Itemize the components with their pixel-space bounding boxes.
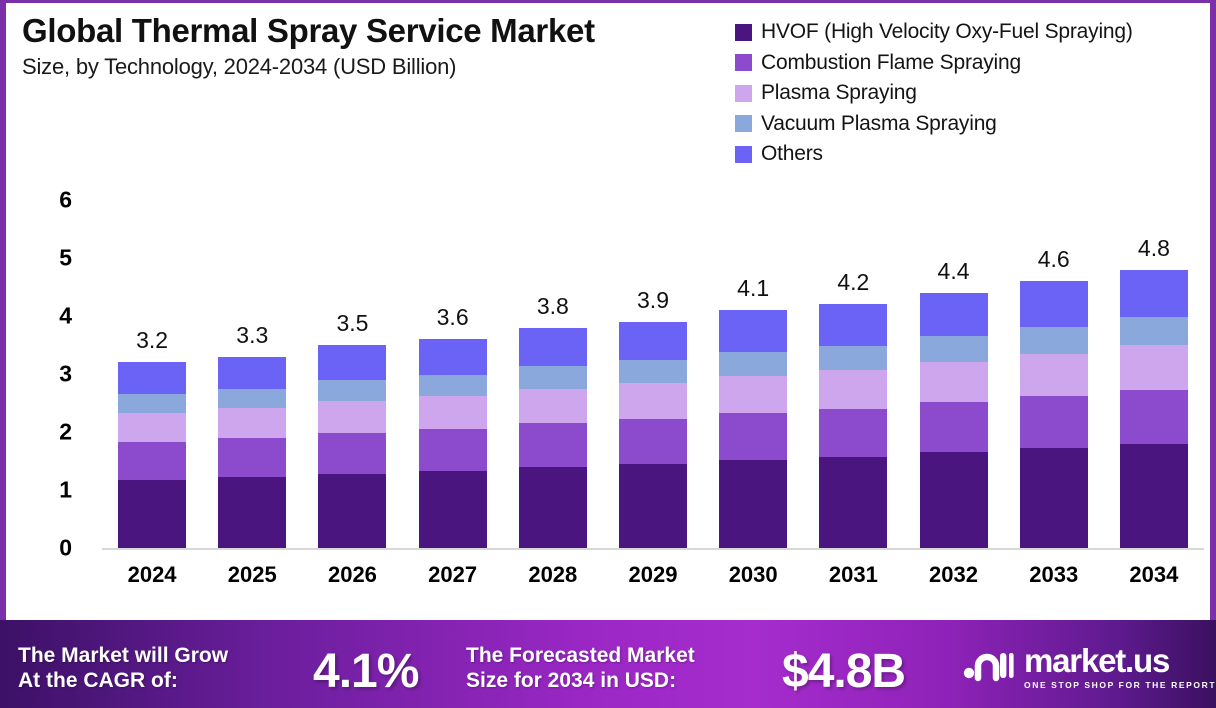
- bar-segment[interactable]: [819, 304, 887, 345]
- cagr-label: The Market will Grow At the CAGR of:: [18, 644, 228, 694]
- x-axis-tick: 2034: [1129, 562, 1178, 588]
- x-axis-tick: 2031: [829, 562, 878, 588]
- bar-group[interactable]: 3.52026: [318, 345, 386, 548]
- bar-total-label: 4.1: [737, 275, 769, 302]
- bar-segment[interactable]: [318, 345, 386, 380]
- bar-group[interactable]: 4.82034: [1120, 270, 1188, 548]
- bar-segment[interactable]: [920, 362, 988, 403]
- y-axis-tick: 0: [59, 535, 72, 562]
- bar-segment[interactable]: [719, 310, 787, 352]
- bar-segment[interactable]: [1020, 281, 1088, 327]
- bar-stack: [920, 293, 988, 548]
- chart-plot-area: 0123456 3.220243.320253.520263.620273.82…: [6, 3, 1216, 611]
- bar-segment[interactable]: [719, 413, 787, 459]
- cagr-label-line2: At the CAGR of:: [18, 669, 228, 694]
- bar-segment[interactable]: [719, 460, 787, 548]
- bar-total-label: 4.6: [1038, 246, 1070, 273]
- bar-segment[interactable]: [819, 457, 887, 548]
- bar-segment[interactable]: [519, 366, 587, 388]
- bar-segment[interactable]: [118, 413, 186, 442]
- summary-banner: The Market will Grow At the CAGR of: 4.1…: [0, 620, 1216, 708]
- x-axis-tick: 2024: [128, 562, 177, 588]
- logo-tagline: ONE STOP SHOP FOR THE REPORTS: [1024, 680, 1216, 690]
- bar-group[interactable]: 3.82028: [519, 328, 587, 548]
- x-axis-tick: 2032: [929, 562, 978, 588]
- bar-segment[interactable]: [419, 396, 487, 429]
- bar-total-label: 3.8: [537, 293, 569, 320]
- bar-segment[interactable]: [318, 433, 386, 474]
- bar-series-container: 3.220243.320253.520263.620273.820283.920…: [102, 3, 1204, 611]
- x-axis-tick: 2026: [328, 562, 377, 588]
- bar-segment[interactable]: [819, 409, 887, 457]
- x-axis-tick: 2033: [1029, 562, 1078, 588]
- bar-stack: [1120, 270, 1188, 548]
- y-axis-tick: 2: [59, 419, 72, 446]
- bar-segment[interactable]: [318, 474, 386, 548]
- bar-segment[interactable]: [1120, 317, 1188, 345]
- bar-stack: [719, 310, 787, 548]
- bar-segment[interactable]: [419, 375, 487, 396]
- bar-total-label: 3.5: [336, 310, 368, 337]
- bar-segment[interactable]: [118, 442, 186, 480]
- bar-group[interactable]: 4.62033: [1020, 281, 1088, 548]
- bar-segment[interactable]: [619, 383, 687, 419]
- cagr-label-line1: The Market will Grow: [18, 644, 228, 669]
- infographic-root: Global Thermal Spray Service Market Size…: [0, 0, 1216, 708]
- bar-segment[interactable]: [519, 423, 587, 467]
- bar-segment[interactable]: [519, 467, 587, 548]
- bar-segment[interactable]: [719, 352, 787, 376]
- bar-total-label: 3.6: [437, 304, 469, 331]
- bar-segment[interactable]: [218, 408, 286, 438]
- bar-segment[interactable]: [118, 362, 186, 394]
- y-axis-tick: 6: [59, 187, 72, 214]
- bar-stack: [519, 328, 587, 548]
- logo-glyph-icon: [962, 645, 1014, 690]
- x-axis-tick: 2027: [428, 562, 477, 588]
- bar-segment[interactable]: [218, 389, 286, 408]
- bar-group[interactable]: 4.42032: [920, 293, 988, 548]
- logo-name: market.us: [1024, 642, 1169, 679]
- bar-segment[interactable]: [419, 471, 487, 548]
- bar-segment[interactable]: [719, 376, 787, 414]
- bar-segment[interactable]: [118, 480, 186, 548]
- bar-segment[interactable]: [519, 389, 587, 424]
- bar-segment[interactable]: [920, 293, 988, 337]
- forecast-label: The Forecasted Market Size for 2034 in U…: [466, 644, 695, 694]
- bar-segment[interactable]: [1020, 396, 1088, 448]
- bar-total-label: 4.4: [938, 258, 970, 285]
- bar-stack: [419, 339, 487, 548]
- bar-stack: [218, 357, 286, 548]
- bar-group[interactable]: 4.22031: [819, 304, 887, 548]
- market-us-logo[interactable]: market.us ONE STOP SHOP FOR THE REPORTS: [962, 644, 1216, 690]
- x-axis-tick: 2030: [729, 562, 778, 588]
- y-axis-tick: 3: [59, 361, 72, 388]
- bar-segment[interactable]: [819, 370, 887, 409]
- bar-segment[interactable]: [1020, 327, 1088, 354]
- x-axis-tick: 2025: [228, 562, 277, 588]
- x-axis-tick: 2028: [528, 562, 577, 588]
- y-axis: 0123456: [6, 3, 102, 611]
- logo-text-block: market.us ONE STOP SHOP FOR THE REPORTS: [1024, 644, 1216, 690]
- bar-stack: [318, 345, 386, 548]
- bar-group[interactable]: 3.92029: [619, 322, 687, 548]
- bar-segment[interactable]: [419, 339, 487, 374]
- bar-segment[interactable]: [218, 357, 286, 389]
- bar-segment[interactable]: [619, 360, 687, 383]
- bar-stack: [819, 304, 887, 548]
- bar-total-label: 4.2: [837, 269, 869, 296]
- bar-segment[interactable]: [318, 401, 386, 433]
- y-axis-tick: 4: [59, 303, 72, 330]
- bar-segment[interactable]: [1120, 444, 1188, 548]
- cagr-value: 4.1%: [313, 644, 418, 699]
- bar-segment[interactable]: [920, 402, 988, 452]
- bar-segment[interactable]: [619, 419, 687, 464]
- forecast-label-line2: Size for 2034 in USD:: [466, 669, 695, 694]
- bar-segment[interactable]: [1120, 345, 1188, 390]
- bar-stack: [619, 322, 687, 548]
- forecast-label-line1: The Forecasted Market: [466, 644, 695, 669]
- bar-segment[interactable]: [218, 477, 286, 548]
- bar-segment[interactable]: [819, 346, 887, 370]
- bar-segment[interactable]: [619, 464, 687, 548]
- x-axis-tick: 2029: [629, 562, 678, 588]
- bar-segment[interactable]: [118, 394, 186, 413]
- bar-segment[interactable]: [920, 336, 988, 362]
- bar-group[interactable]: 3.32025: [218, 357, 286, 548]
- forecast-value: $4.8B: [782, 644, 905, 699]
- bar-segment[interactable]: [519, 328, 587, 367]
- bar-segment[interactable]: [1120, 390, 1188, 444]
- bar-total-label: 3.3: [236, 322, 268, 349]
- bar-stack: [118, 362, 186, 548]
- bar-segment[interactable]: [419, 429, 487, 471]
- bar-group[interactable]: 4.12030: [719, 310, 787, 548]
- bar-stack: [1020, 281, 1088, 548]
- bar-total-label: 3.2: [136, 327, 168, 354]
- bar-segment[interactable]: [1120, 270, 1188, 318]
- bar-segment[interactable]: [619, 322, 687, 360]
- bar-total-label: 3.9: [637, 287, 669, 314]
- bar-segment[interactable]: [218, 438, 286, 477]
- y-axis-tick: 5: [59, 245, 72, 272]
- bar-group[interactable]: 3.62027: [419, 339, 487, 548]
- bar-segment[interactable]: [318, 380, 386, 400]
- bar-segment[interactable]: [920, 452, 988, 548]
- bar-total-label: 4.8: [1138, 235, 1170, 262]
- y-axis-tick: 1: [59, 477, 72, 504]
- bar-segment[interactable]: [1020, 354, 1088, 396]
- bar-group[interactable]: 3.22024: [118, 362, 186, 548]
- bar-segment[interactable]: [1020, 448, 1088, 548]
